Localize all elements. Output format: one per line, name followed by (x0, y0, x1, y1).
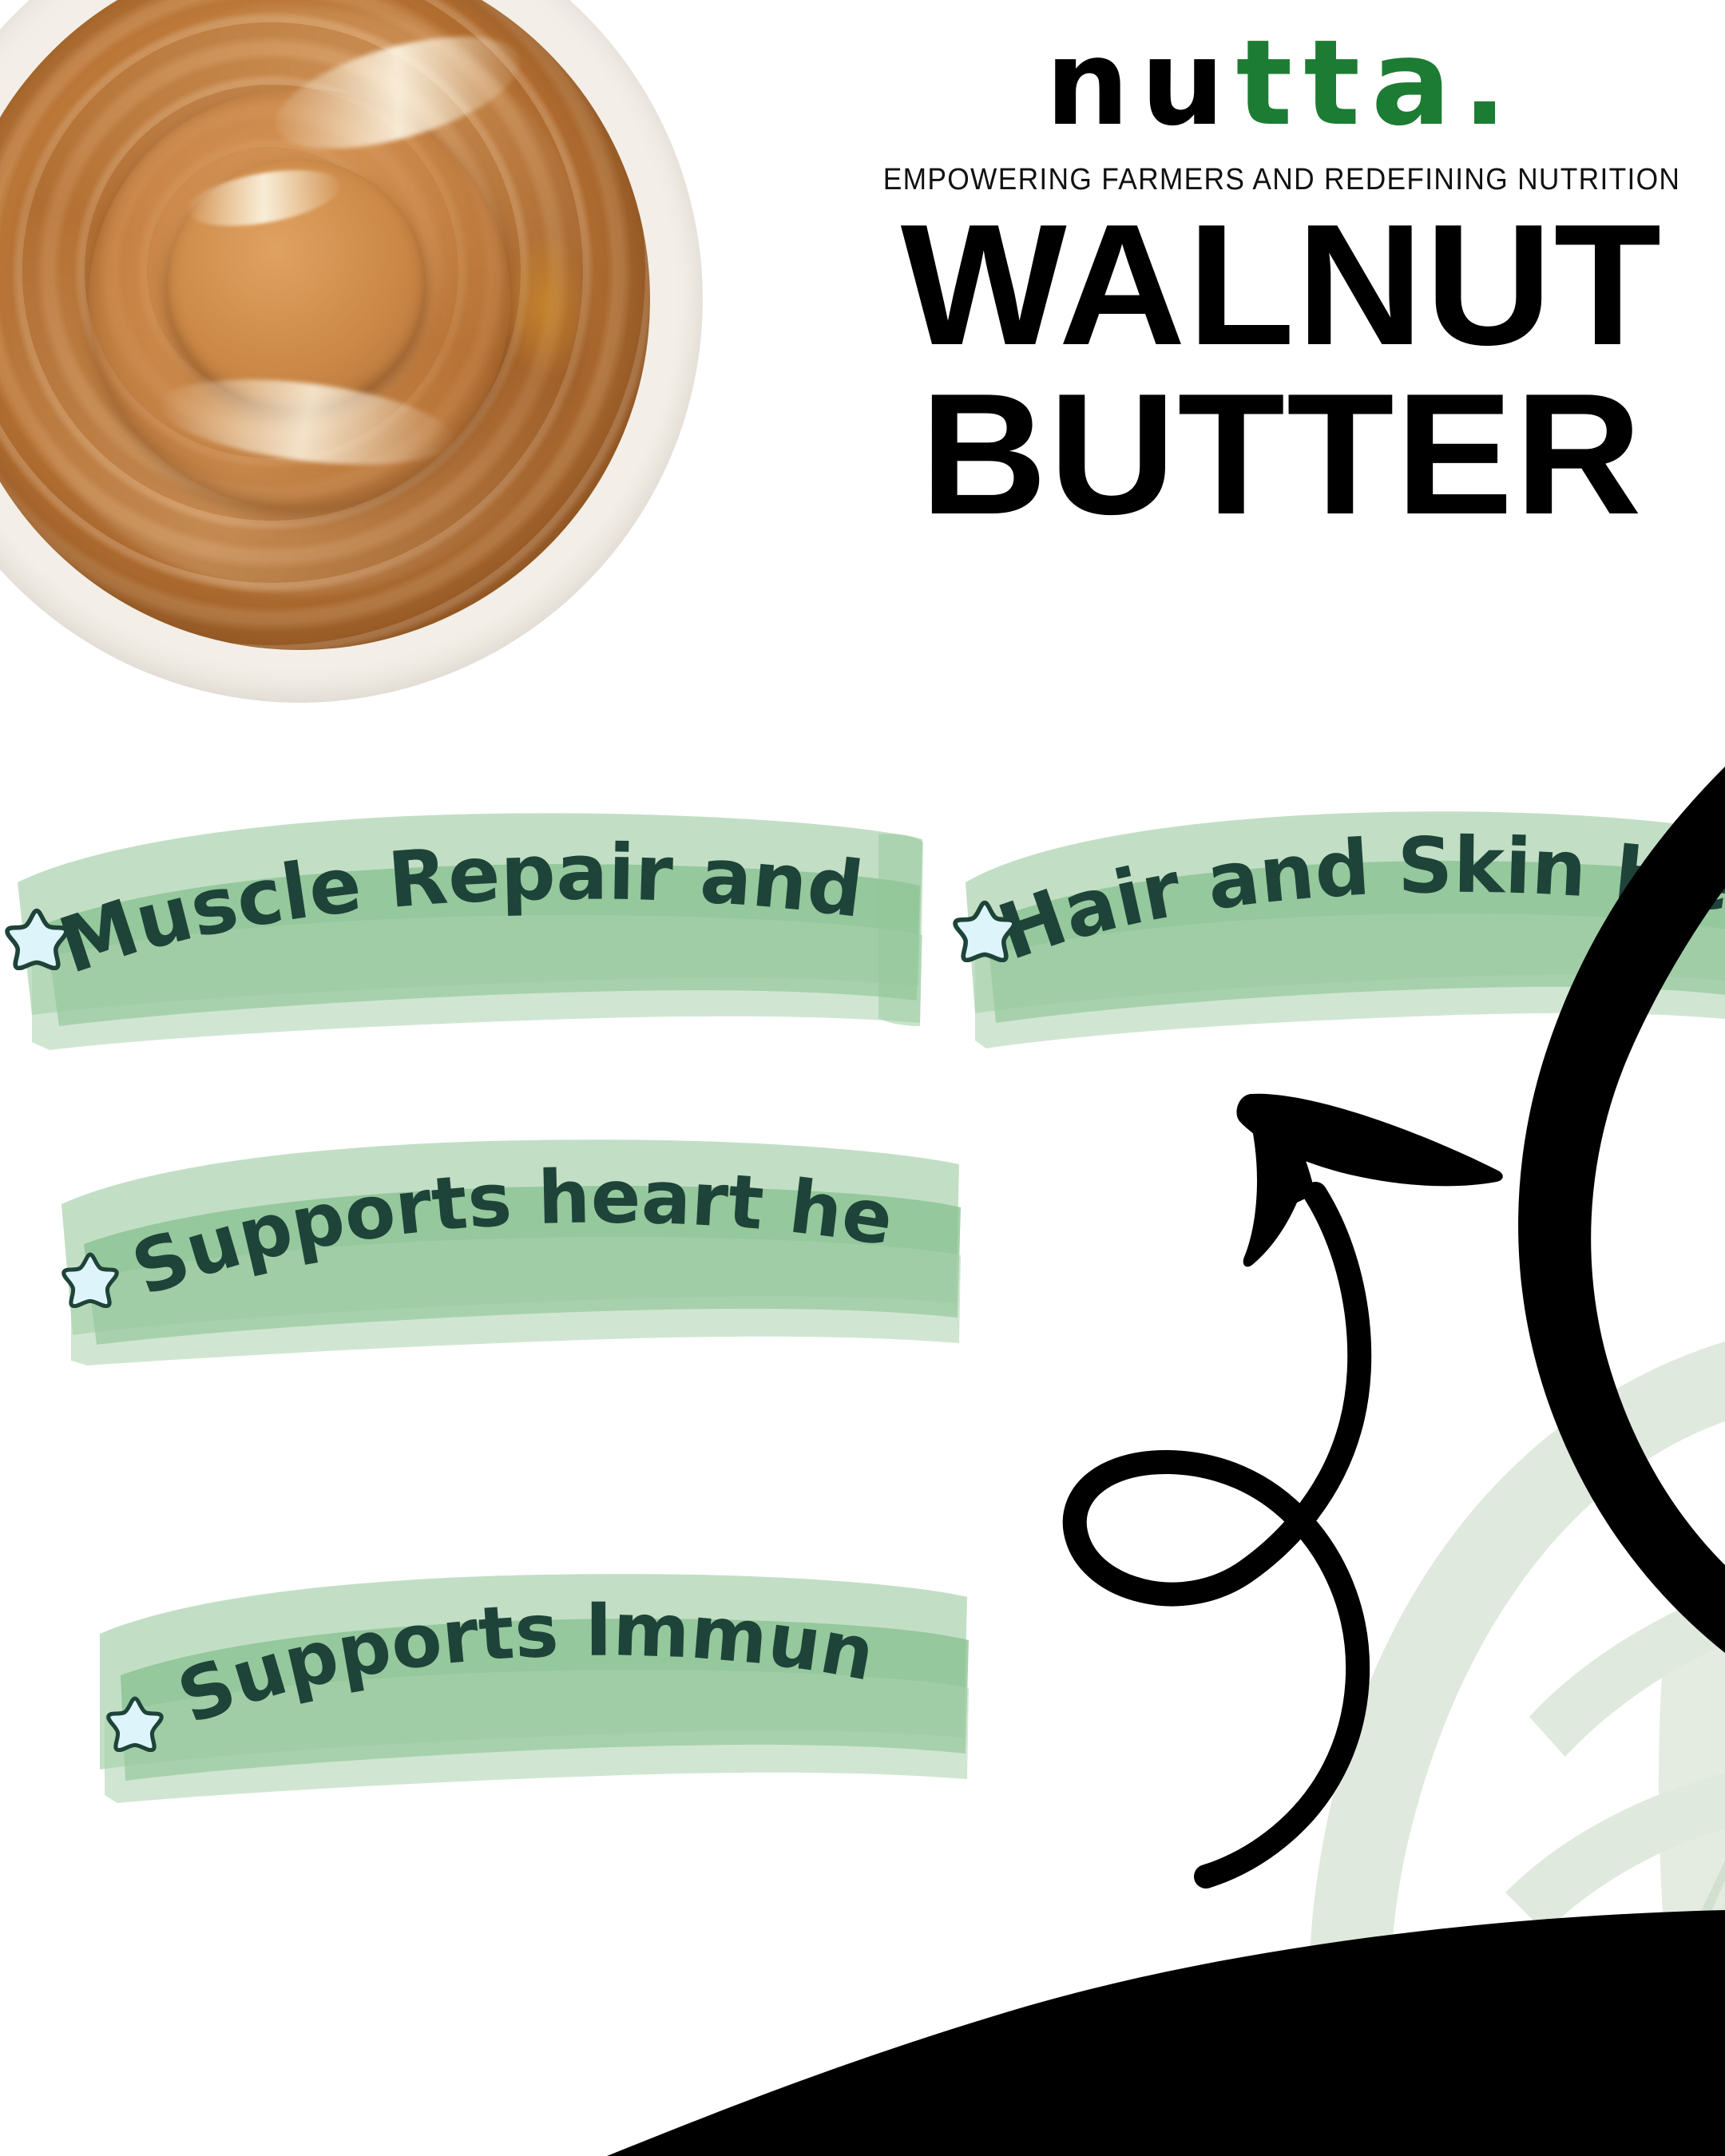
green-brushstroke-band (954, 787, 1725, 1050)
star-icon (5, 906, 69, 970)
star-icon (106, 1694, 164, 1752)
butter-oil-pool (503, 229, 587, 383)
butter-highlight-top (264, 14, 532, 171)
brand-logo-black-part: nu (1045, 14, 1236, 152)
butter-highlight-center (184, 160, 345, 235)
benefit-banner-supports-immunity[interactable]: Supports Immunity (52, 1557, 970, 1805)
green-brushstroke-band (0, 787, 926, 1050)
green-brushstroke-band (52, 1557, 970, 1805)
page-title: WALNUT BUTTER (847, 200, 1717, 538)
brand-logo-green-part: tta. (1236, 14, 1519, 152)
green-brushstroke-band (44, 1118, 962, 1365)
page-title-line2: BUTTER (838, 370, 1725, 539)
poster-canvas: nutta. EMPOWERING FARMERS AND REDEFINING… (0, 0, 1725, 2156)
page-title-line1: WALNUT (838, 200, 1725, 370)
butter-highlight-bottom (156, 366, 458, 478)
product-photo-walnut-butter (0, 0, 703, 703)
star-icon (953, 898, 1017, 962)
benefit-banner-supports-heart-health[interactable]: Supports heart health (44, 1118, 962, 1365)
brand-logo: nutta. (847, 24, 1717, 142)
benefit-banner-hair-and-skin-health[interactable]: Hair and Skin Health (954, 787, 1725, 1050)
poster-header: nutta. EMPOWERING FARMERS AND REDEFINING… (847, 24, 1717, 538)
benefit-banner-muscle-repair-and-growth[interactable]: Muscle Repair and Growth (0, 787, 926, 1050)
star-icon (61, 1250, 119, 1308)
